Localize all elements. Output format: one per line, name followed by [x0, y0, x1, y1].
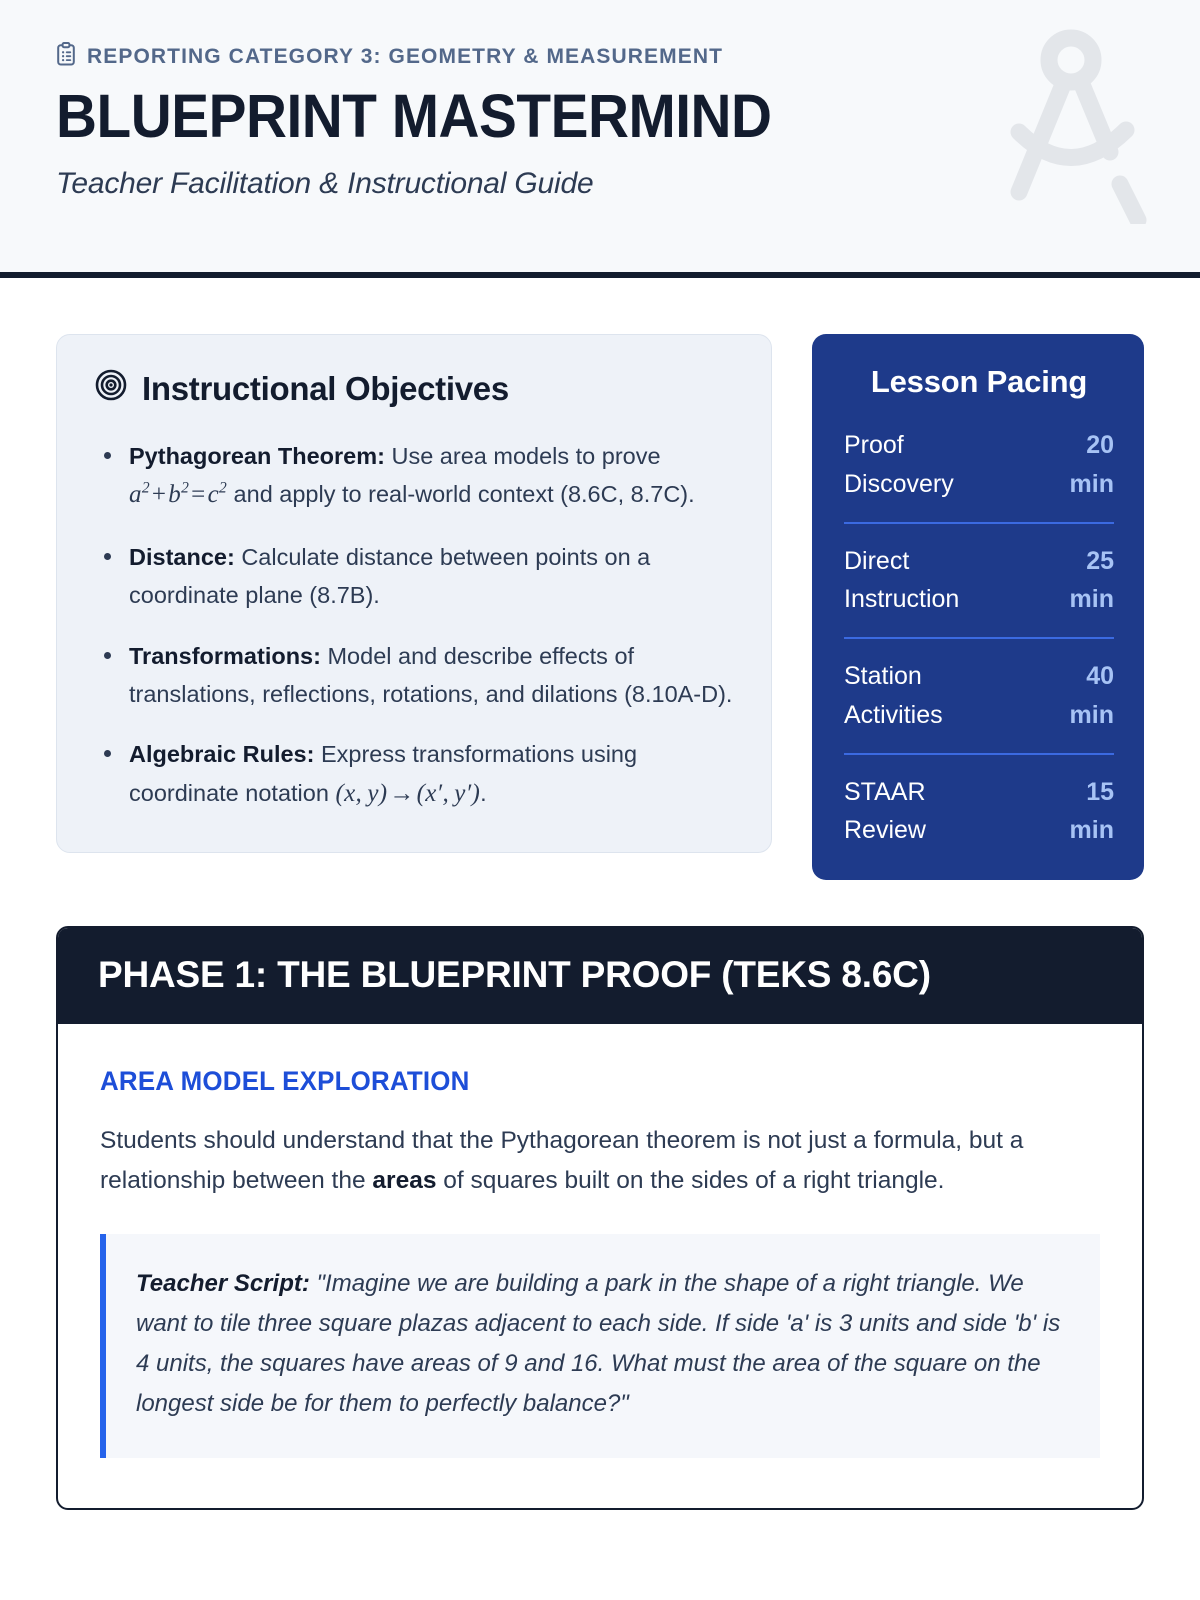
- list-item: Algebraic Rules: Express transformations…: [95, 735, 735, 814]
- pacing-row: Direct Instruction 25 min: [844, 542, 1114, 640]
- top-grid: Instructional Objectives Pythagorean The…: [56, 334, 1144, 880]
- list-item: Pythagorean Theorem: Use area models to …: [95, 437, 735, 516]
- paragraph-part2: of squares built on the sides of a right…: [436, 1167, 944, 1194]
- teacher-script-label: Teacher Script:: [136, 1270, 310, 1297]
- pacing-row: Station Activities 40 min: [844, 657, 1114, 755]
- objectives-heading: Instructional Objectives: [95, 369, 735, 409]
- list-item: Distance: Calculate distance between poi…: [95, 538, 735, 615]
- pacing-label: Station Activities: [844, 657, 1004, 735]
- instructional-objectives-card: Instructional Objectives Pythagorean The…: [56, 334, 772, 853]
- objective-term: Algebraic Rules:: [129, 741, 314, 767]
- pacing-title: Lesson Pacing: [844, 364, 1114, 400]
- page-title: BLUEPRINT MASTERMIND: [56, 86, 1068, 147]
- section-subheading: AREA MODEL EXPLORATION: [100, 1066, 1060, 1097]
- objective-text-after: and apply to real-world context (8.6C, 8…: [227, 481, 695, 507]
- pacing-value: 20 min: [1070, 426, 1114, 504]
- objective-term: Distance:: [129, 544, 235, 570]
- pacing-row: STAAR Review 15 min: [844, 773, 1114, 851]
- pacing-label: STAAR Review: [844, 773, 1004, 851]
- phase-body: AREA MODEL EXPLORATION Students should u…: [58, 1024, 1142, 1508]
- objective-term: Pythagorean Theorem:: [129, 443, 385, 469]
- clipboard-icon: [56, 42, 76, 72]
- phase-header: PHASE 1: THE BLUEPRINT PROOF (TEKS 8.6C): [58, 928, 1142, 1024]
- objective-text-before: Use area models to prove: [385, 443, 661, 469]
- objectives-list: Pythagorean Theorem: Use area models to …: [95, 437, 735, 814]
- objective-math: a2+b2=c2: [129, 481, 227, 508]
- pacing-value: 40 min: [1070, 657, 1114, 735]
- main-content: Instructional Objectives Pythagorean The…: [0, 278, 1200, 1510]
- pacing-value: 25 min: [1070, 542, 1114, 620]
- objectives-heading-label: Instructional Objectives: [142, 370, 509, 408]
- document-header: Reporting Category 3: Geometry & Measure…: [0, 0, 1200, 278]
- page-subtitle: Teacher Facilitation & Instructional Gui…: [56, 167, 1144, 201]
- phase-1-card: PHASE 1: THE BLUEPRINT PROOF (TEKS 8.6C)…: [56, 926, 1144, 1510]
- objective-text-after: .: [480, 780, 487, 806]
- lesson-pacing-card: Lesson Pacing Proof Discovery 20 min Dir…: [812, 334, 1144, 880]
- breadcrumb: Reporting Category 3: Geometry & Measure…: [56, 42, 1144, 72]
- objective-math: (x, y)→(x′, y′): [335, 780, 480, 807]
- compass-icon: [986, 24, 1156, 229]
- teacher-script-callout: Teacher Script: "Imagine we are building…: [100, 1234, 1100, 1457]
- paragraph-emphasis: areas: [372, 1167, 436, 1194]
- pacing-label: Proof Discovery: [844, 426, 1004, 504]
- objective-term: Transformations:: [129, 643, 321, 669]
- breadcrumb-label: Reporting Category 3: Geometry & Measure…: [87, 45, 723, 69]
- pacing-value: 15 min: [1070, 773, 1114, 851]
- pacing-label: Direct Instruction: [844, 542, 1004, 620]
- target-icon: [95, 369, 127, 409]
- pacing-row: Proof Discovery 20 min: [844, 426, 1114, 524]
- section-paragraph: Students should understand that the Pyth…: [100, 1121, 1100, 1200]
- list-item: Transformations: Model and describe effe…: [95, 637, 735, 714]
